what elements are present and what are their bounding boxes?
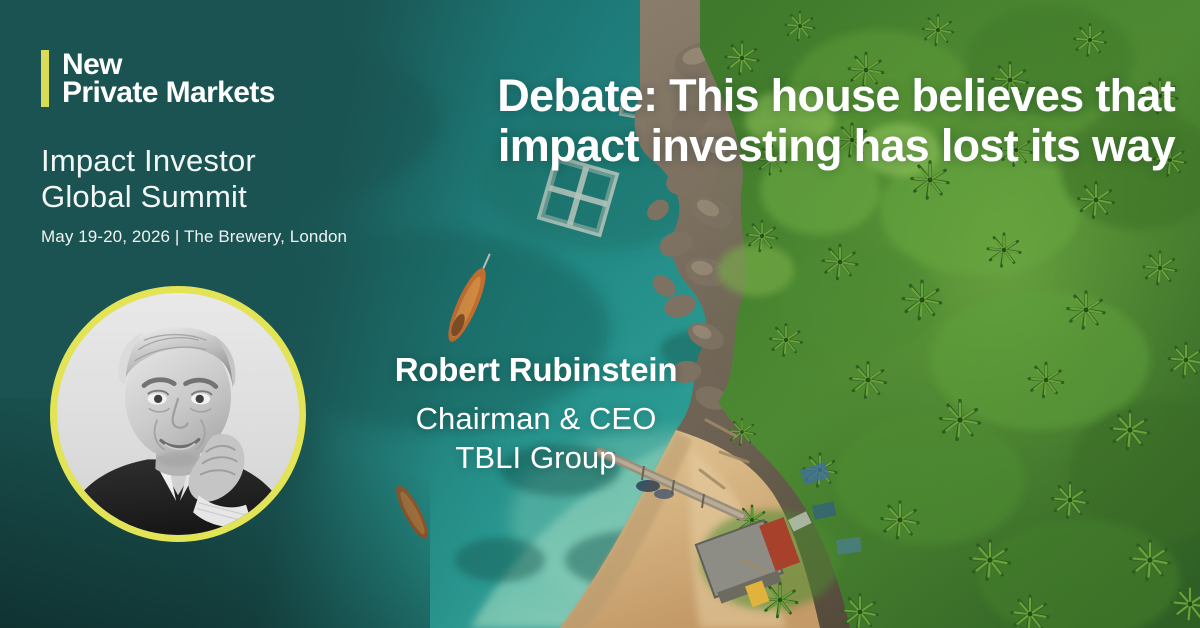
event-date-venue: May 19-20, 2026 | The Brewery, London bbox=[41, 227, 371, 247]
speaker-name: Robert Rubinstein bbox=[336, 352, 736, 388]
speaker-role: Chairman & CEO bbox=[336, 400, 736, 439]
headline: Debate: This house believes that impact … bbox=[415, 71, 1175, 172]
wordmark-line-2: Private Markets bbox=[62, 79, 275, 107]
event-title: Impact Investor Global Summit bbox=[41, 143, 371, 214]
event-title-line-1: Impact Investor bbox=[41, 143, 371, 178]
brand-lockup: New Private Markets Impact Investor Glob… bbox=[41, 50, 371, 247]
speaker-details: Robert Rubinstein Chairman & CEO TBLI Gr… bbox=[336, 352, 736, 478]
event-title-line-2: Global Summit bbox=[41, 179, 371, 214]
brand-wordmark: New Private Markets bbox=[62, 50, 275, 107]
accent-bar bbox=[41, 50, 49, 107]
speaker-portrait bbox=[50, 286, 306, 542]
event-promo-banner: New Private Markets Impact Investor Glob… bbox=[0, 0, 1200, 628]
wordmark-line-1: New bbox=[62, 51, 275, 79]
portrait-illustration bbox=[57, 293, 299, 535]
wordmark-row: New Private Markets bbox=[41, 50, 371, 107]
speaker-organization: TBLI Group bbox=[336, 439, 736, 478]
